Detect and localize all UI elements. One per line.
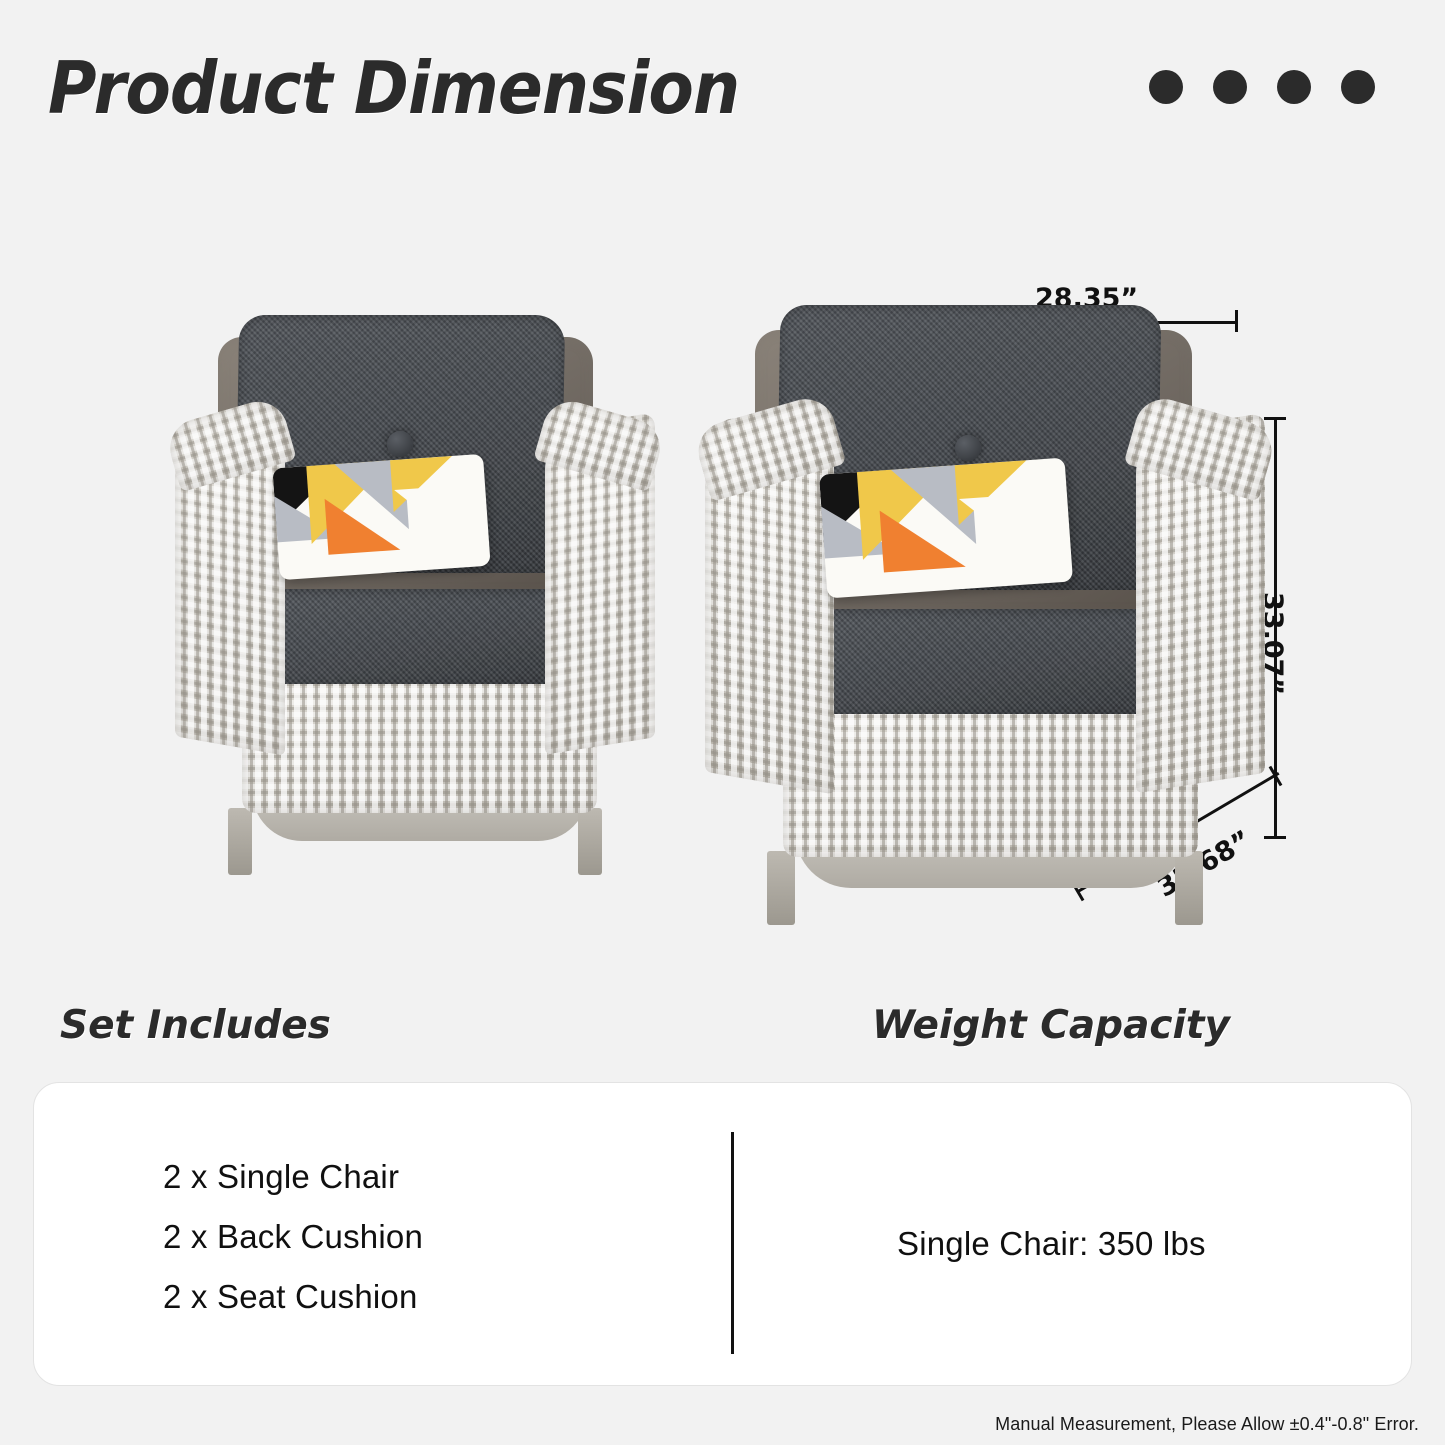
list-item: 2 x Back Cushion — [163, 1218, 423, 1256]
weight-capacity-heading: Weight Capacity — [872, 1003, 1230, 1048]
geometric-throw-pillow — [272, 453, 490, 579]
product-illustration-stage: 28.35” 33.07” 32.68” — [0, 250, 1445, 980]
dimension-height-cap-top — [1264, 417, 1286, 420]
dimension-height-cap-bottom — [1264, 836, 1286, 839]
cushion-button-tuft — [387, 431, 413, 457]
weight-capacity-value: Single Chair: 350 lbs — [897, 1225, 1206, 1263]
seat-cushion — [269, 589, 575, 684]
card-column-divider — [731, 1132, 734, 1354]
chair-leg-right — [578, 808, 602, 875]
set-includes-heading: Set Includes — [60, 1003, 331, 1048]
chair-leg-left — [228, 808, 252, 875]
measurement-disclaimer: Manual Measurement, Please Allow ±0.4"-0… — [995, 1414, 1419, 1435]
cushion-button-tuft — [955, 435, 981, 461]
set-includes-list: 2 x Single Chair 2 x Back Cushion 2 x Se… — [163, 1158, 423, 1316]
list-item: 2 x Seat Cushion — [163, 1278, 423, 1316]
header-dot-icon — [1341, 70, 1375, 104]
geometric-throw-pillow — [819, 458, 1073, 599]
header-dot-icon — [1149, 70, 1183, 104]
chair-illustration-left — [175, 315, 655, 875]
header-dot-icon — [1277, 70, 1311, 104]
list-item: 2 x Single Chair — [163, 1158, 423, 1196]
dimension-width-cap-right — [1235, 310, 1238, 332]
chair-leg-right — [1175, 851, 1203, 925]
chair-illustration-right — [705, 305, 1265, 925]
page-title: Product Dimension — [48, 46, 739, 130]
header-dot-icon — [1213, 70, 1247, 104]
header-dots-group — [1149, 70, 1375, 104]
chair-leg-left — [767, 851, 795, 925]
seat-cushion — [815, 609, 1171, 714]
